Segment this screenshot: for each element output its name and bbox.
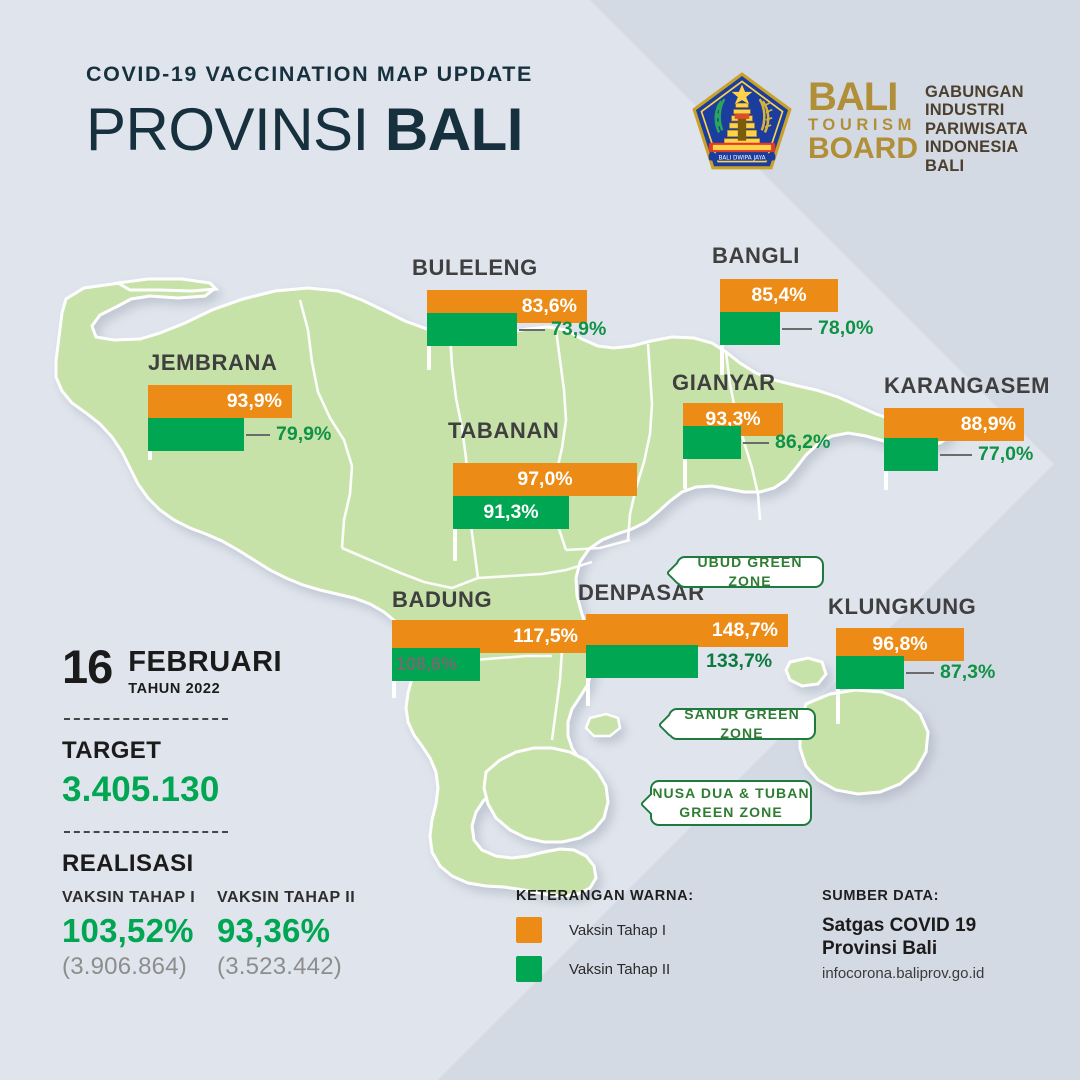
target-value: 3.405.130 (62, 770, 372, 810)
realisasi-dose1-label: VAKSIN TAHAP I (62, 889, 217, 907)
value-dose1-tabanan: 97,0% (453, 463, 637, 496)
bali-tourism-board-logo: BALI TOURISM BOARD GABUNGANINDUSTRIPARIW… (808, 70, 1028, 175)
legend-label-dose1: Vaksin Tahap I (569, 922, 666, 939)
date-month: FEBRUARI (128, 648, 282, 677)
divider-1 (64, 718, 228, 720)
realisasi-dose1-column: VAKSIN TAHAP I 103,52% (3.906.864) (62, 889, 217, 981)
date-block: 16 FEBRUARI TAHUN 2022 (62, 645, 372, 697)
value-dose1-denpasar: 148,7% (586, 614, 778, 647)
region-label-tabanan: TABANAN (448, 418, 559, 444)
bar-dose2-denpasar (586, 645, 698, 678)
legend-swatch-dose2 (516, 956, 542, 982)
green-zone-ubud: UBUD GREEN ZONE (676, 556, 824, 588)
value-dose2-jembrana: 79,9% (276, 418, 331, 451)
region-label-karangasem: KARANGASEM (884, 373, 1050, 399)
stats-panel: 16 FEBRUARI TAHUN 2022 TARGET 3.405.130 … (62, 645, 372, 981)
value-dose2-badung: 108,6% (396, 648, 457, 681)
region-label-klungkung: KLUNGKUNG (828, 594, 976, 620)
value-dose1-bangli: 85,4% (720, 279, 838, 312)
value-dose2-gianyar: 86,2% (775, 426, 830, 459)
page-header: COVID-19 VACCINATION MAP UPDATE PROVINSI… (86, 64, 533, 160)
serangan-island (586, 714, 620, 736)
realisasi-label: REALISASI (62, 850, 372, 878)
green-zone-label-sanur: SANUR GREEN ZONE (670, 705, 814, 743)
realisasi-dose2-column: VAKSIN TAHAP II 93,36% (3.523.442) (217, 889, 372, 981)
legend: KETERANGAN WARNA: Vaksin Tahap I Vaksin … (516, 888, 694, 982)
page-title-bold: BALI (385, 96, 523, 163)
bar-dose2-karangasem (884, 438, 938, 471)
realisasi-dose1-percent: 103,52% (62, 912, 217, 950)
source-block: SUMBER DATA: Satgas COVID 19Provinsi Bal… (822, 888, 984, 982)
divider-2 (64, 831, 228, 833)
legend-item-dose2: Vaksin Tahap II (516, 956, 694, 982)
leader-line-bangli (782, 328, 812, 330)
realisasi-dose2-label: VAKSIN TAHAP II (217, 889, 372, 907)
region-label-bangli: BANGLI (712, 243, 800, 269)
value-dose2-karangasem: 77,0% (978, 438, 1033, 471)
date-year: TAHUN 2022 (128, 681, 282, 697)
region-label-gianyar: GIANYAR (672, 370, 776, 396)
value-dose2-tabanan: 91,3% (453, 496, 569, 529)
btb-board-text: BOARD (808, 135, 918, 164)
legend-label-dose2: Vaksin Tahap II (569, 961, 670, 978)
bar-dose2-buleleng (427, 313, 517, 346)
header-kicker: COVID-19 VACCINATION MAP UPDATE (86, 64, 533, 86)
nusa-lembongan-island (786, 658, 826, 686)
region-label-buleleng: BULELENG (412, 255, 538, 281)
bar-dose2-klungkung (836, 656, 904, 689)
value-dose1-jembrana: 93,9% (148, 385, 282, 418)
page-title-light: PROVINSI (86, 96, 385, 163)
value-dose1-karangasem: 88,9% (884, 408, 1016, 441)
bar-dose2-bangli (720, 312, 780, 345)
target-label: TARGET (62, 737, 372, 765)
region-label-jembrana: JEMBRANA (148, 350, 277, 376)
legend-swatch-dose1 (516, 917, 542, 943)
leader-line-buleleng (519, 329, 545, 331)
realisasi-columns: VAKSIN TAHAP I 103,52% (3.906.864) VAKSI… (62, 889, 372, 981)
btb-org-text: GABUNGANINDUSTRIPARIWISATAINDONESIABALI (925, 79, 1028, 175)
value-dose2-klungkung: 87,3% (940, 656, 995, 689)
page-title: PROVINSI BALI (86, 100, 533, 160)
leader-line-karangasem (940, 454, 972, 456)
green-zone-label-nusa-dua-tuban: NUSA DUA & TUBANGREEN ZONE (652, 784, 809, 822)
realisasi-dose2-count: (3.523.442) (217, 953, 372, 981)
leader-line-jembrana (246, 434, 270, 436)
bali-province-emblem-icon: BALI DWIPA JAYA (690, 70, 794, 174)
svg-text:BALI DWIPA JAYA: BALI DWIPA JAYA (718, 155, 765, 161)
bali-northwest-cape (118, 279, 216, 291)
value-dose2-buleleng: 73,9% (551, 313, 606, 346)
source-body: Satgas COVID 19Provinsi Bali (822, 915, 984, 961)
btb-bali-text: BALI (808, 79, 918, 116)
legend-heading: KETERANGAN WARNA: (516, 888, 694, 904)
logo-group: BALI DWIPA JAYA BALI TOURISM BOARD GABUN… (690, 70, 1028, 175)
bukit-peninsula (484, 748, 608, 842)
value-dose2-denpasar: 133,7% (706, 645, 772, 678)
legend-item-dose1: Vaksin Tahap I (516, 917, 694, 943)
date-day: 16 (62, 645, 112, 690)
green-zone-sanur: SANUR GREEN ZONE (668, 708, 816, 740)
region-label-badung: BADUNG (392, 587, 492, 613)
green-zone-nusa-dua-tuban: NUSA DUA & TUBANGREEN ZONE (650, 780, 812, 826)
nusa-penida-island (800, 690, 928, 794)
realisasi-dose1-count: (3.906.864) (62, 953, 217, 981)
green-zone-label-ubud: UBUD GREEN ZONE (678, 553, 822, 591)
bar-dose2-jembrana (148, 418, 244, 451)
bar-dose2-gianyar (683, 426, 741, 459)
leader-line-klungkung (906, 672, 934, 674)
value-dose2-bangli: 78,0% (818, 312, 873, 345)
realisasi-dose2-percent: 93,36% (217, 912, 372, 950)
source-heading: SUMBER DATA: (822, 888, 984, 904)
leader-line-gianyar (743, 442, 769, 444)
source-url: infocorona.baliprov.go.id (822, 965, 984, 982)
